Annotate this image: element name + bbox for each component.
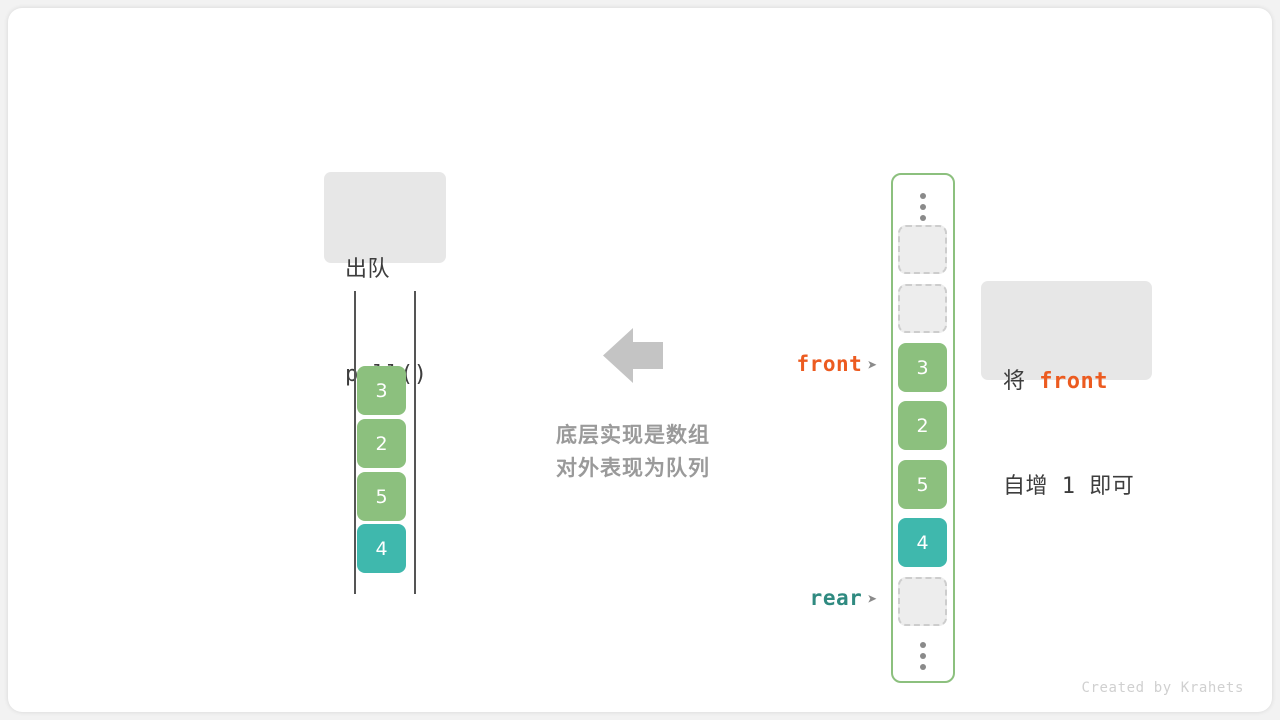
callout-poll-line1: 出队 bbox=[345, 252, 446, 287]
watermark: Created by Krahets bbox=[1081, 680, 1244, 696]
queue-view-column: 3 2 5 4 bbox=[348, 291, 428, 596]
array-cell-2: 3 bbox=[898, 343, 947, 392]
array-cell-4: 5 bbox=[898, 460, 947, 509]
diagram-card: 出队 poll() 将 front 自增 1 即可 底层实现是数组 对外表现为队… bbox=[8, 8, 1272, 712]
pointer-rear-label: rear bbox=[810, 586, 863, 610]
array-view-column: 3 2 5 4 bbox=[891, 173, 955, 683]
array-cell-0 bbox=[898, 225, 947, 274]
diagram-canvas: 出队 poll() 将 front 自增 1 即可 底层实现是数组 对外表现为队… bbox=[0, 0, 1280, 720]
queue-cell-3: 4 bbox=[357, 524, 406, 573]
queue-cell-1: 2 bbox=[357, 419, 406, 468]
pointer-front-label: front bbox=[797, 352, 863, 376]
queue-rail-left bbox=[354, 291, 356, 594]
caption-line2: 对外表现为队列 bbox=[508, 452, 758, 485]
ellipsis-top-icon bbox=[893, 193, 953, 221]
pointer-front-arrow-icon: ➤ bbox=[862, 356, 878, 376]
callout-front-prefix: 将 bbox=[1003, 369, 1039, 394]
callout-front-line2: 自增 1 即可 bbox=[1003, 469, 1152, 504]
ellipsis-bottom-icon bbox=[893, 642, 953, 670]
callout-front-line1: 将 front bbox=[1003, 364, 1152, 399]
callout-poll: 出队 poll() bbox=[324, 172, 446, 263]
queue-rail-right bbox=[414, 291, 416, 594]
pointer-rear: rear➤ bbox=[728, 586, 878, 610]
array-cell-3: 2 bbox=[898, 401, 947, 450]
pointer-rear-arrow-icon: ➤ bbox=[862, 590, 878, 610]
center-caption: 底层实现是数组 对外表现为队列 bbox=[508, 419, 758, 485]
caption-line1: 底层实现是数组 bbox=[508, 419, 758, 452]
array-cell-5: 4 bbox=[898, 518, 947, 567]
array-cell-1 bbox=[898, 284, 947, 333]
left-arrow-icon bbox=[603, 328, 663, 383]
queue-cell-0: 3 bbox=[357, 366, 406, 415]
queue-cell-2: 5 bbox=[357, 472, 406, 521]
pointer-front: front➤ bbox=[728, 352, 878, 376]
callout-front-keyword: front bbox=[1039, 369, 1108, 394]
callout-front-increment: 将 front 自增 1 即可 bbox=[981, 281, 1152, 380]
array-cell-6 bbox=[898, 577, 947, 626]
